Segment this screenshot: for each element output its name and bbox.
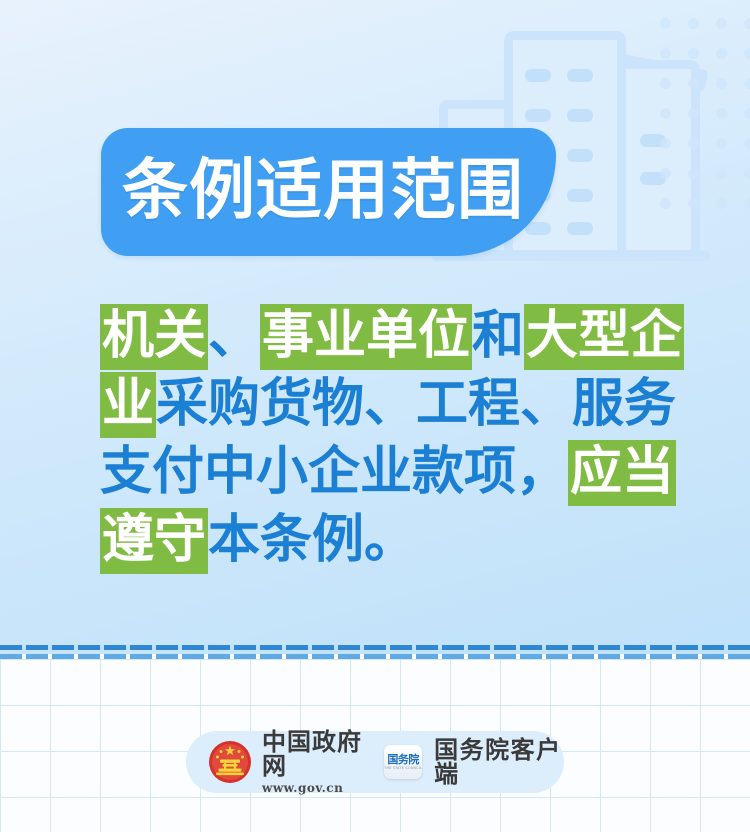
highlighted-phrase: 业: [100, 372, 156, 438]
body-copy: 机关、事业单位和大型企 业采购货物、工程、服务 支付中小企业款项，应当 遵守本条…: [100, 302, 675, 574]
gov-site-url: www.gov.cn: [262, 782, 368, 794]
body-line: 遵守本条例。: [100, 506, 675, 574]
building-window-icon: [567, 69, 593, 82]
body-text-run: 支付中小企业款项，: [100, 442, 568, 502]
body-line: 机关、事业单位和大型企: [100, 302, 675, 370]
body-text-run: 采购货物、工程、服务: [156, 374, 676, 434]
body-text-run: 本条例。: [208, 510, 416, 570]
gov-site-label-group: 中国政府网 www.gov.cn: [262, 730, 368, 794]
building-window-icon: [525, 109, 551, 122]
body-line: 业采购货物、工程、服务: [100, 370, 675, 438]
highlighted-phrase: 应当: [568, 440, 676, 506]
building-window-icon: [567, 189, 593, 202]
dashed-divider: [0, 645, 750, 659]
state-council-app-name: 国务院客户端: [434, 738, 564, 786]
highlighted-phrase: 大型企: [524, 304, 684, 370]
body-text-run: 、: [208, 306, 260, 366]
footer-branding: 中国政府网 www.gov.cn 国务院 THE STATE COUNCIL 国…: [186, 731, 564, 793]
building-window-icon: [567, 222, 593, 235]
building-window-icon: [567, 149, 593, 162]
body-text-run: 和: [472, 306, 524, 366]
highlighted-phrase: 事业单位: [260, 304, 472, 370]
dot-pattern-decoration: [660, 18, 750, 248]
building-window-icon: [525, 222, 551, 235]
divider-line-upper: [0, 645, 750, 650]
building-window-icon: [567, 109, 593, 122]
page-title: 条例适用范围: [122, 158, 524, 224]
app-icon-sublabel: THE STATE COUNCIL: [384, 767, 422, 770]
app-icon-label: 国务院: [387, 754, 419, 765]
national-emblem-icon: [208, 740, 252, 784]
infographic-poster: 条例适用范围 机关、事业单位和大型企 业采购货物、工程、服务 支付中小企业款项，…: [0, 0, 750, 832]
highlighted-phrase: 遵守: [100, 508, 208, 574]
body-line: 支付中小企业款项，应当: [100, 438, 675, 506]
state-council-app-icon: 国务院 THE STATE COUNCIL: [384, 745, 422, 779]
highlighted-phrase: 机关: [100, 304, 208, 370]
title-banner: 条例适用范围: [101, 128, 556, 256]
gov-site-title: 中国政府网: [262, 730, 368, 778]
building-window-icon: [525, 69, 551, 82]
